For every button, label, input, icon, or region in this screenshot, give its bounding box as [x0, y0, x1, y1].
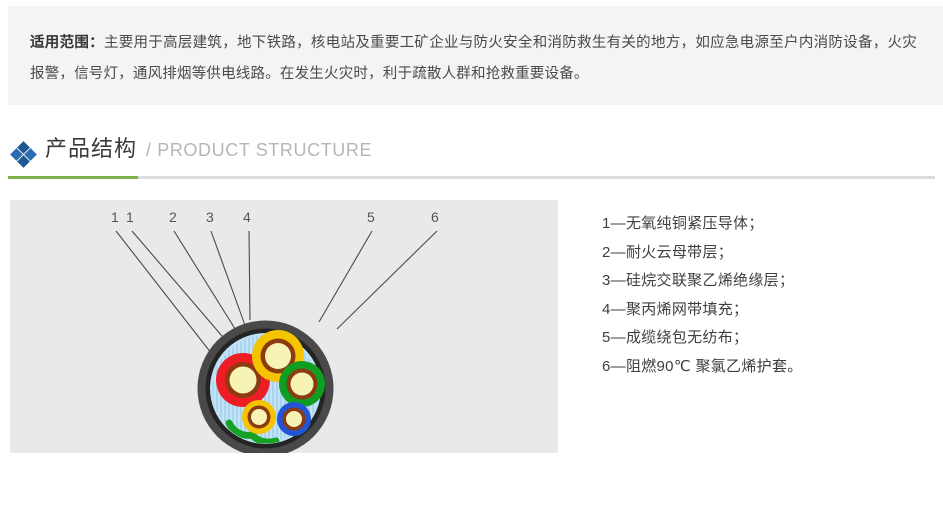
- callout-leader-line: [211, 231, 246, 328]
- callout-number: 3: [206, 209, 214, 225]
- scope-notice-body: 主要用于高层建筑，地下铁路，核电站及重要工矿企业与防火安全和消防救生有关的地方，…: [30, 35, 917, 82]
- callout-leader-line: [319, 231, 372, 322]
- legend-item: 6—阻燃90℃ 聚氯乙烯护套。: [602, 353, 932, 382]
- callout-number: 2: [169, 209, 177, 225]
- legend-item: 5—成缆绕包无纺布；: [602, 324, 932, 353]
- scope-notice-text: 适用范围：主要用于高层建筑，地下铁路，核电站及重要工矿企业与防火安全和消防救生有…: [30, 28, 917, 90]
- callout-number: 5: [367, 209, 375, 225]
- cable-cross-section: [196, 319, 335, 453]
- structure-legend: 1—无氧纯铜紧压导体； 2—耐火云母带层； 3—硅烷交联聚乙烯绝缘层； 4—聚丙…: [602, 210, 932, 381]
- section-title-en: / PRODUCT STRUCTURE: [146, 135, 372, 165]
- section-title-cn: 产品结构: [45, 134, 137, 164]
- section-header-row: 产品结构 / PRODUCT STRUCTURE: [8, 134, 935, 172]
- four-diamond-icon: [12, 143, 36, 165]
- scope-notice-label: 适用范围：: [30, 35, 104, 51]
- core-green: [279, 361, 325, 407]
- callout-number: 6: [431, 209, 439, 225]
- legend-item: 2—耐火云母带层；: [602, 239, 932, 268]
- callout-number: 1: [126, 209, 134, 225]
- scope-notice-banner: 适用范围：主要用于高层建筑，地下铁路，核电站及重要工矿企业与防火安全和消防救生有…: [8, 6, 943, 105]
- callout-leader-line: [249, 231, 250, 320]
- callout-number: 1: [111, 209, 119, 225]
- callout-leader-line: [337, 231, 437, 329]
- core-blue: [277, 402, 311, 436]
- callout-number: 4: [243, 209, 251, 225]
- legend-item: 4—聚丙烯网带填充；: [602, 296, 932, 325]
- section-underline: [8, 176, 935, 179]
- product-structure-figure: 1123456: [10, 200, 558, 453]
- core-yellow-small: [242, 400, 276, 434]
- section-header: 产品结构 / PRODUCT STRUCTURE: [8, 134, 935, 178]
- legend-item: 3—硅烷交联聚乙烯绝缘层；: [602, 267, 932, 296]
- legend-item: 1—无氧纯铜紧压导体；: [602, 210, 932, 239]
